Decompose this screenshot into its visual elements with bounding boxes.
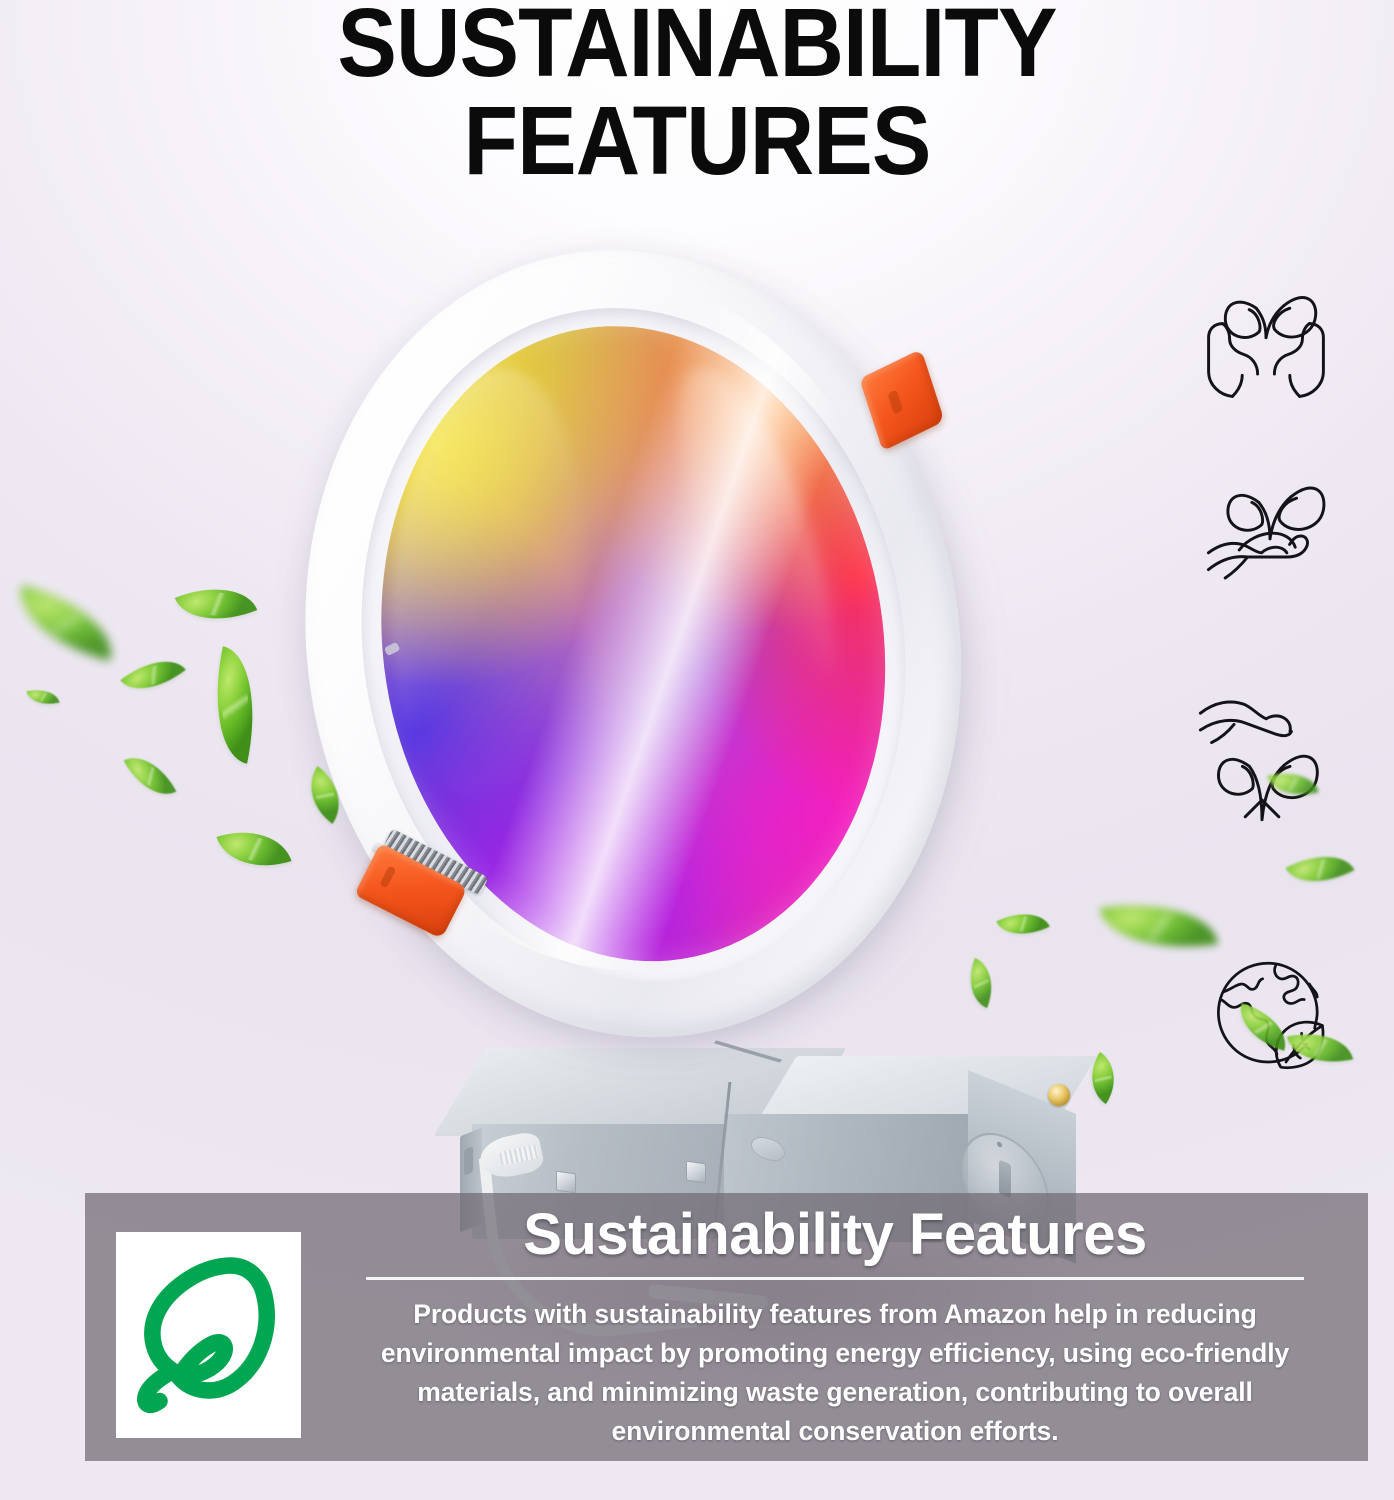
title-line-two: FEATURES <box>56 94 1338 187</box>
junction-box-brass-screw <box>1048 1084 1070 1106</box>
downlight-assembly <box>227 178 1050 1117</box>
junction-box-knockout <box>686 1161 706 1184</box>
banner-text-block: Sustainability Features Products with su… <box>330 1199 1340 1457</box>
spring-clip-notch <box>887 389 903 414</box>
green-leaf-icon <box>134 1251 284 1419</box>
product-marketing-image: SUSTAINABILITY FEATURES <box>0 0 1394 1500</box>
spring-clip-notch <box>379 865 396 888</box>
banner-body-text: Products with sustainability features fr… <box>343 1295 1328 1451</box>
title-line-one: SUSTAINABILITY <box>56 0 1338 89</box>
junction-box-endcap-slot <box>464 1146 473 1176</box>
banner-divider <box>366 1277 1304 1280</box>
sustainability-banner: Sustainability Features Products with su… <box>85 1193 1368 1461</box>
page-title: SUSTAINABILITY FEATURES <box>0 0 1394 187</box>
banner-title: Sustainability Features <box>523 1205 1146 1265</box>
climate-pledge-logo <box>116 1232 301 1438</box>
